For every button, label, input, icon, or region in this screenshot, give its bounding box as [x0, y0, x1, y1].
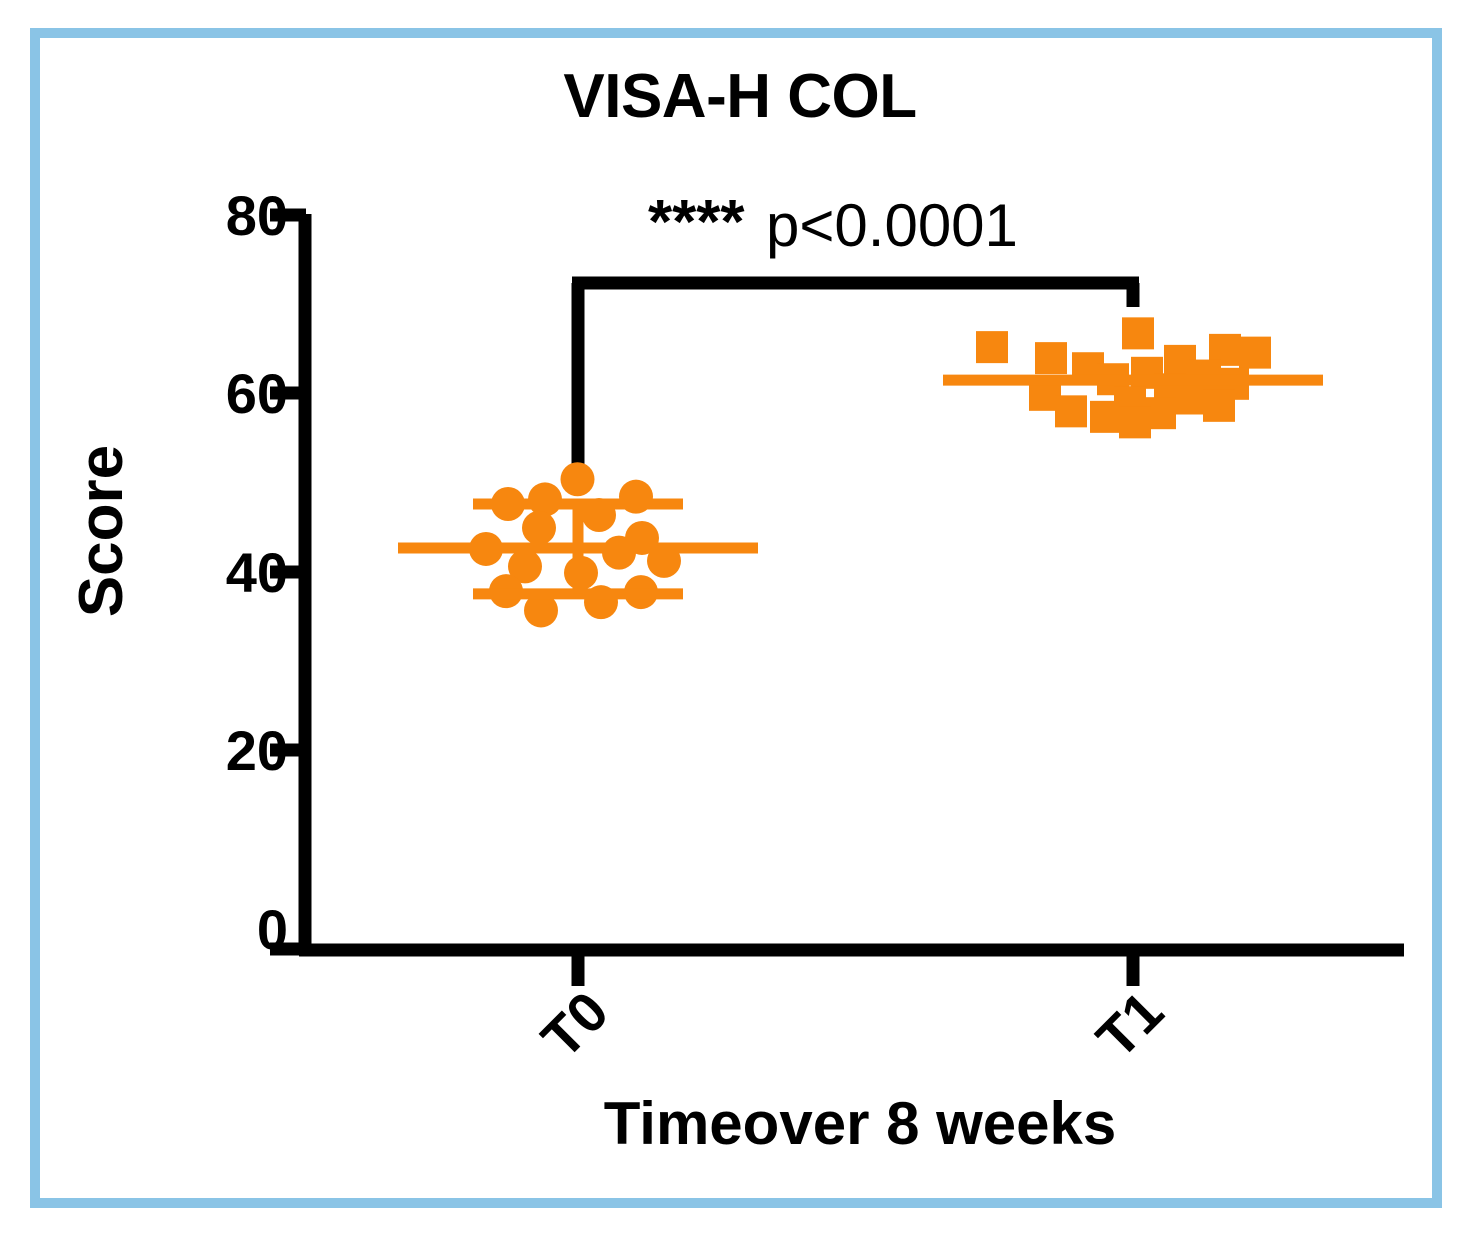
data-point-t1-0 — [1122, 317, 1154, 349]
data-point-t1-1 — [976, 331, 1008, 363]
data-point-t1-18 — [1090, 401, 1122, 433]
data-point-t1-4 — [1035, 342, 1067, 374]
figure-canvas: VISA-H COL Score Timeover 8 weeks 80 60 … — [0, 0, 1480, 1244]
data-point-t0-0 — [561, 462, 595, 496]
plot-area — [0, 0, 1480, 1244]
data-point-t1-3 — [1239, 337, 1271, 369]
axis-lines — [270, 214, 1404, 986]
data-point-t1-19 — [1119, 406, 1151, 438]
data-point-t0-5 — [522, 511, 556, 545]
data-point-t1-13 — [1174, 383, 1206, 415]
data-point-t1-16 — [1055, 395, 1087, 427]
data-point-t1-15 — [1203, 390, 1235, 422]
